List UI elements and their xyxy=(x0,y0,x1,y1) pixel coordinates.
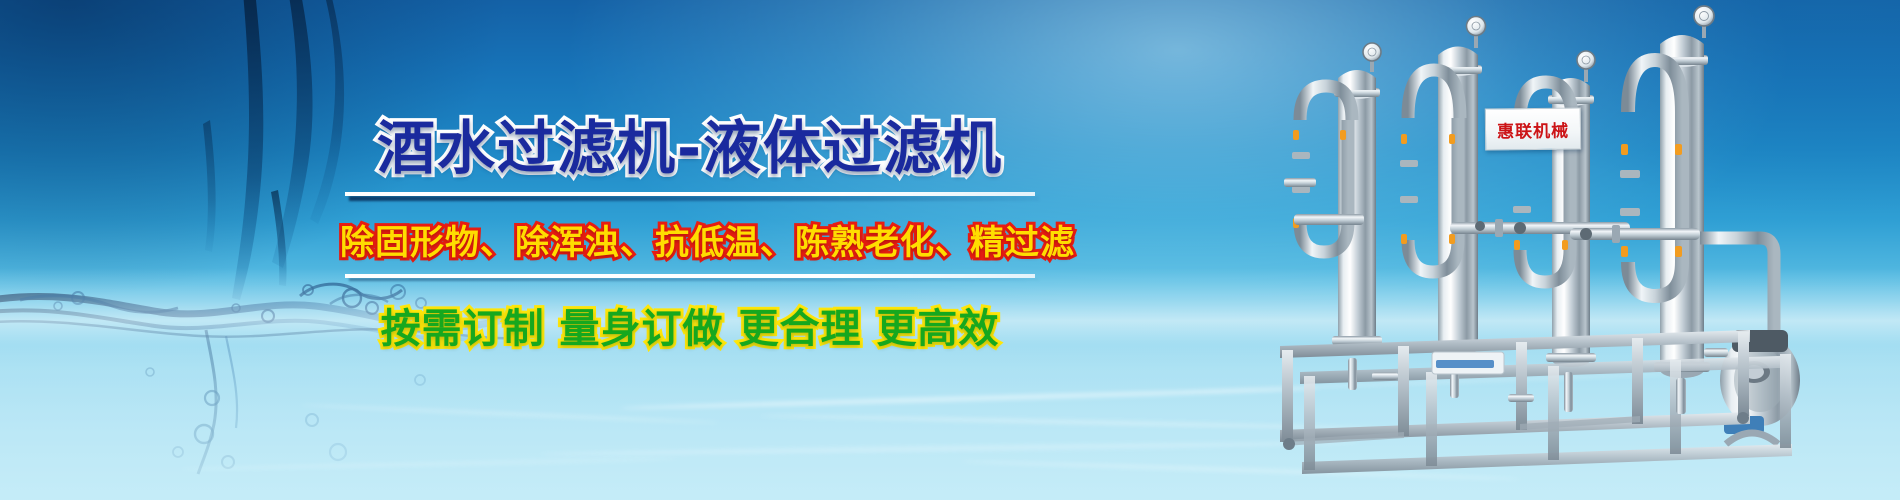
divider-shadow xyxy=(349,278,1039,281)
background-vignette-top-left xyxy=(0,0,680,380)
filter-vessel xyxy=(1284,43,1382,350)
divider-bottom xyxy=(345,274,1035,280)
divider-line xyxy=(345,274,1035,278)
brand-sign-label: 惠联机械 xyxy=(1497,116,1569,142)
water-ripple xyxy=(540,440,1360,456)
water-ripple xyxy=(300,403,720,425)
banner-text-block: 酒水过滤机-液体过滤机 除固形物、除浑浊、抗低温、陈熟老化、精过滤 按需订制 量… xyxy=(340,118,1040,354)
divider-shadow xyxy=(349,196,1039,201)
banner-tagline: 按需订制 量身订做 更合理 更高效 xyxy=(340,296,1040,354)
divider-line xyxy=(345,192,1035,196)
filter-vessel xyxy=(1513,51,1596,367)
water-ripple xyxy=(180,457,680,471)
product-banner: 酒水过滤机-液体过滤机 除固形物、除浑浊、抗低温、陈熟老化、精过滤 按需订制 量… xyxy=(0,0,1900,500)
filter-machine-image xyxy=(1280,0,1900,500)
banner-headline: 酒水过滤机-液体过滤机 xyxy=(340,118,1040,179)
water-splash-image xyxy=(0,0,520,500)
brand-sign: 惠联机械 xyxy=(1485,107,1581,150)
filter-vessel xyxy=(1400,17,1486,356)
filter-vessel xyxy=(1620,6,1714,378)
banner-subline: 除固形物、除浑浊、抗低温、陈熟老化、精过滤 xyxy=(340,215,1040,264)
water-ripple xyxy=(620,386,1320,411)
divider-top xyxy=(345,192,1035,201)
